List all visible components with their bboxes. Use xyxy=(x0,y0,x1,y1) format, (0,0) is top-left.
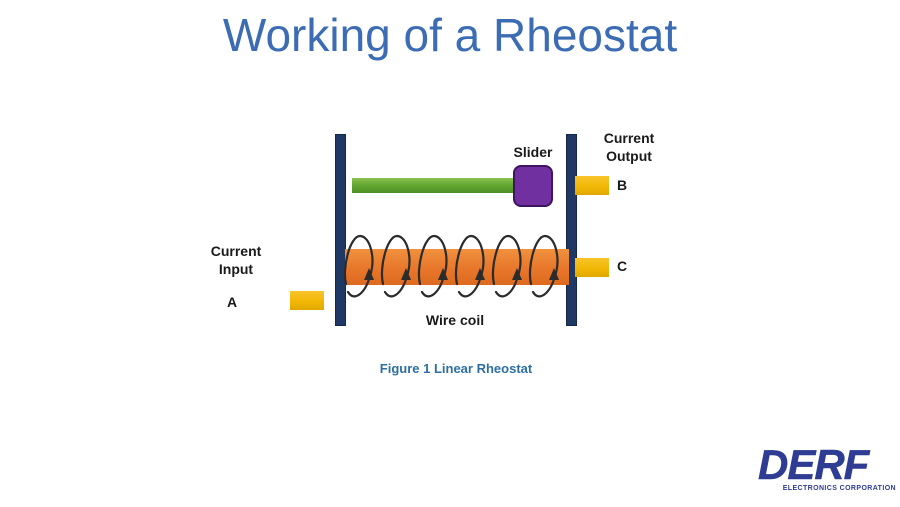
slider-block[interactable] xyxy=(513,165,553,207)
terminal-c-connector xyxy=(575,258,609,277)
label-current-output-line1: Current xyxy=(585,130,673,148)
label-terminal-c: C xyxy=(614,258,630,276)
rheostat-diagram: Slider Current Output B C Current Input … xyxy=(0,0,900,507)
logo-wordmark: DERF xyxy=(758,446,896,484)
label-terminal-a: A xyxy=(224,294,240,312)
derf-logo: DERF ELECTRONICS CORPORATION xyxy=(758,446,896,496)
label-terminal-b: B xyxy=(614,177,630,195)
label-current-output: Current Output xyxy=(585,130,673,165)
label-current-input-line2: Input xyxy=(190,261,282,279)
terminal-a-connector xyxy=(290,291,324,310)
wire-coil-graphic xyxy=(340,228,580,312)
label-slider: Slider xyxy=(500,144,566,162)
slide-canvas: Working of a Rheostat xyxy=(0,0,900,507)
label-wire-coil: Wire coil xyxy=(405,312,505,330)
label-current-input: Current Input xyxy=(190,243,282,278)
label-current-output-line2: Output xyxy=(585,148,673,166)
terminal-b-connector xyxy=(575,176,609,195)
label-current-input-line1: Current xyxy=(190,243,282,261)
figure-caption: Figure 1 Linear Rheostat xyxy=(350,361,562,376)
